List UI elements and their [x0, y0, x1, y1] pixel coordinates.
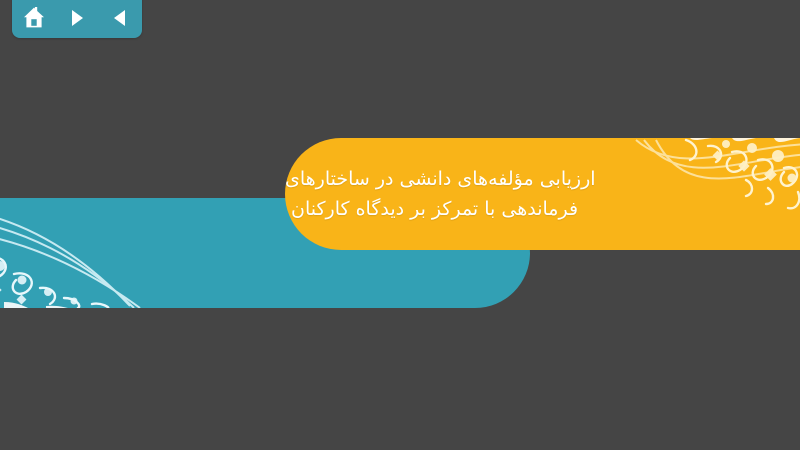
- arabesque-corner-ornament-teal: [0, 198, 260, 308]
- triangle-left-icon: [109, 7, 131, 29]
- next-slide-button[interactable]: [62, 4, 92, 32]
- orange-title-band: [285, 138, 800, 250]
- slide-navigation-bar: [12, 0, 142, 38]
- triangle-right-icon: [66, 7, 88, 29]
- home-icon: [22, 6, 46, 30]
- arabesque-corner-ornament-orange: [570, 138, 800, 250]
- slide-canvas: ارزیابی مؤلفه‌های دانشی در ساختارهای فرم…: [0, 0, 800, 450]
- previous-slide-button[interactable]: [105, 4, 135, 32]
- home-button[interactable]: [19, 4, 49, 32]
